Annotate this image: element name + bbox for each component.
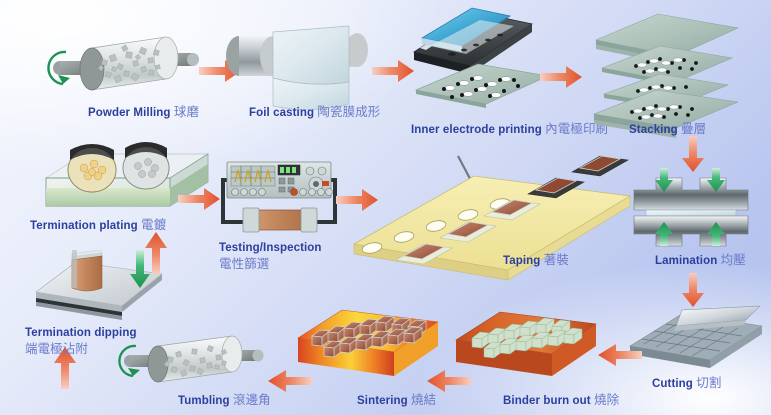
foil-casting-illustration (226, 22, 376, 108)
step-label-stacking: Stacking 疊層 (629, 122, 706, 137)
printed-green-sheet (416, 64, 548, 108)
ceramic-foil-sheet (273, 26, 349, 110)
step-label-binder-burn-out: Binder burn out 燒除 (503, 393, 619, 408)
inner-electrode-printing-illustration (406, 8, 566, 120)
step-label-termination-plating: Termination plating 電鍍 (30, 218, 166, 233)
test-instrument (227, 162, 333, 198)
step-label-tumbling: Tumbling 滾邊角 (178, 393, 271, 408)
flow-arrow-left-1 (598, 344, 642, 366)
flow-arrow-left-3 (268, 370, 312, 392)
flow-arrow-right-3 (540, 66, 582, 88)
powder-milling-illustration (36, 22, 206, 108)
press-bottom (634, 216, 748, 246)
flow-arrow-down-lamination (682, 273, 704, 307)
step-label-inner-electrode: Inner electrode printing 內電極印刷 (411, 122, 608, 137)
laminated-stack (646, 210, 736, 216)
press-top (634, 178, 748, 210)
taping-illustration (348, 152, 638, 286)
step-label-cutting: Cutting 切割 (652, 376, 721, 391)
binder-burn-out-illustration (452, 306, 600, 384)
cutting-illustration (624, 306, 768, 376)
screen-printer (414, 8, 532, 74)
testing-inspection-illustration (215, 160, 343, 238)
flow-arrow-down-stacking (682, 136, 704, 172)
flow-arrow-right-plating (178, 188, 220, 210)
flow-arrow-up-dipping (144, 232, 168, 274)
step-label-termination-dipping: Termination dipping 端電極沾附 (25, 325, 175, 358)
step-label-powder-milling: Powder Milling 球磨 (88, 105, 199, 120)
stacking-illustration (586, 10, 758, 120)
drum-body (80, 37, 178, 90)
stacked-sheets (594, 14, 738, 138)
device-under-test (243, 208, 317, 232)
process-flow-diagram: Powder Milling 球磨 Foil casting 陶瓷膜成形 (0, 0, 771, 415)
step-label-sintering: Sintering 燒結 (357, 393, 436, 408)
carrier-tape (354, 156, 630, 280)
lamination-illustration (626, 168, 756, 246)
step-label-taping: Taping 著裝 (503, 253, 569, 268)
step-label-lamination: Lamination 均壓 (655, 253, 746, 268)
sintering-illustration (294, 302, 442, 384)
step-label-foil-casting: Foil casting 陶瓷膜成形 (249, 105, 380, 120)
paste-cup (72, 250, 104, 291)
